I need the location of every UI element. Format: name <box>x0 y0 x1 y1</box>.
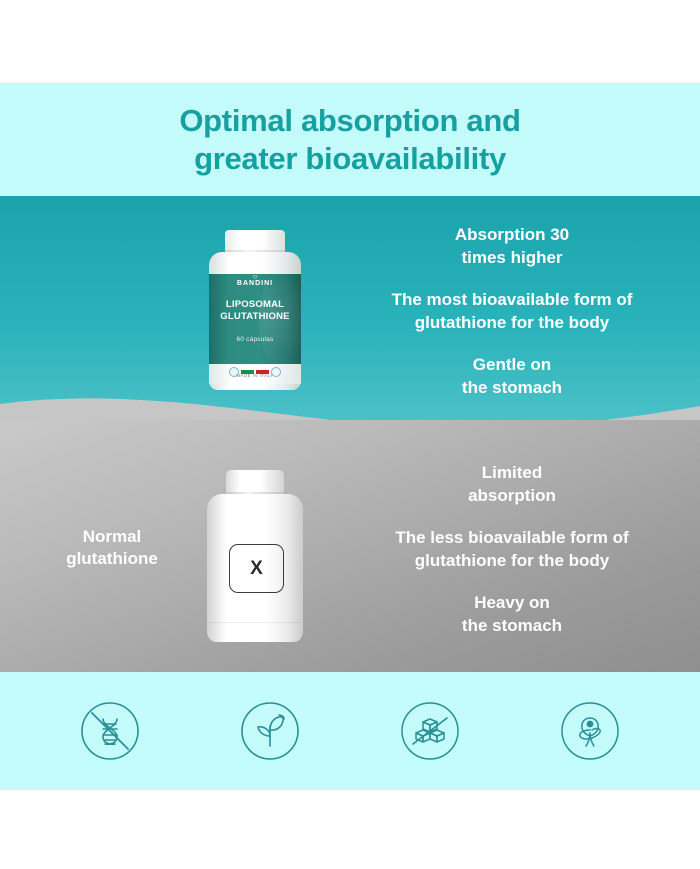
wellness-figure-icon <box>559 700 621 762</box>
plain-bottle-label-box: X <box>229 544 284 593</box>
normal-benefit-2: The less bioavailable form of glutathion… <box>330 527 694 572</box>
headline-line-1: Optimal absorption and <box>179 102 520 140</box>
badge-plant-based <box>238 699 302 763</box>
made-in-text: MADE IN ITALY <box>209 373 301 378</box>
normal-product-bottle: X <box>207 470 303 642</box>
bottle-cap <box>225 230 285 252</box>
product-name-line1: LIPOSOMAL <box>209 299 301 311</box>
normal-benefit-list: Limited absorption The less bioavailable… <box>330 462 694 638</box>
headline-band: Optimal absorption and greater bioavaila… <box>0 83 700 196</box>
bottle-label: ○ BANDINI LIPOSOMAL GLUTATHIONE 60 cápsu… <box>209 274 301 364</box>
liposomal-comparison-band: Liposomal Glutathione Absorption 30 time… <box>0 196 700 436</box>
normal-row-label-line2: glutathione <box>12 548 212 570</box>
plain-bottle-base-seam <box>209 622 301 623</box>
product-name-line2: GLUTATHIONE <box>209 311 301 323</box>
plant-sprout-icon <box>239 700 301 762</box>
normal-row-label: Normal glutathione <box>12 526 212 571</box>
dna-no-gmo-icon <box>79 700 141 762</box>
liposomal-benefit-1: Absorption 30 times higher <box>330 224 694 269</box>
normal-comparison-band: Normal glutathione Limited absorption Th… <box>0 420 700 672</box>
sugar-cubes-no-sugar-icon <box>399 700 461 762</box>
liposomal-product-bottle: ○ BANDINI LIPOSOMAL GLUTATHIONE 60 cápsu… <box>209 230 301 390</box>
unavailable-mark: X <box>250 559 263 578</box>
bottle-label-footer: MADE IN ITALY <box>209 364 301 384</box>
brand-name: BANDINI <box>209 280 301 287</box>
gray-top-wave <box>0 420 700 450</box>
product-name: LIPOSOMAL GLUTATHIONE <box>209 299 301 323</box>
normal-row-label-line1: Normal <box>12 526 212 548</box>
badge-band <box>0 672 700 790</box>
infographic-page: Optimal absorption and greater bioavaila… <box>0 0 700 869</box>
badge-sugar-free <box>398 699 462 763</box>
liposomal-benefit-2: The most bioavailable form of glutathion… <box>330 289 694 334</box>
capsule-count: 60 cápsulas <box>209 336 301 343</box>
badge-non-gmo <box>78 699 142 763</box>
headline-line-2: greater bioavailability <box>194 140 506 178</box>
normal-benefit-1: Limited absorption <box>330 462 694 507</box>
badge-wellbeing <box>558 699 622 763</box>
liposomal-benefit-list: Absorption 30 times higher The most bioa… <box>330 224 694 400</box>
plain-bottle-cap <box>226 470 284 494</box>
normal-benefit-3: Heavy on the stomach <box>330 592 694 637</box>
badge-row <box>0 672 700 790</box>
